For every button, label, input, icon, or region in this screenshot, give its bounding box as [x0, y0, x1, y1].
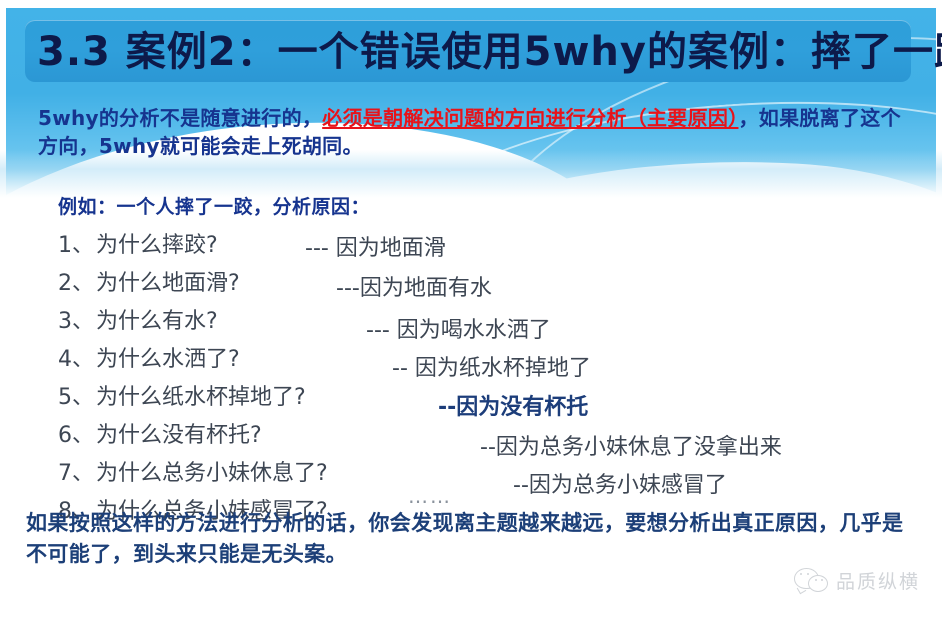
ellipsis-marker: …… — [408, 484, 452, 508]
answer-row: --因为没有杯托 — [438, 389, 588, 421]
answer-list: --- 因为地面滑---因为地面有水--- 因为喝水水洒了-- 因为纸水杯掉地了… — [0, 224, 942, 504]
wechat-icon — [794, 568, 828, 594]
answer-row: -- 因为纸水杯掉地了 — [392, 350, 591, 382]
title-box: 3.3 案例2：一个错误使用5why的案例：摔了一跤 — [25, 20, 911, 82]
answer-row: ---因为地面有水 — [336, 270, 492, 302]
answer-row: --因为总务小妹休息了没拿出来 — [480, 429, 782, 461]
slide-canvas: 3.3 案例2：一个错误使用5why的案例：摔了一跤 5why的分析不是随意进行… — [0, 0, 942, 620]
intro-lead: 5why的分析不是随意进行的， — [38, 106, 322, 130]
intro-highlight: 必须是朝解决问题的方向进行分析（主要原因） — [322, 106, 738, 130]
watermark: 品质纵横 — [794, 567, 920, 594]
page-title: 3.3 案例2：一个错误使用5why的案例：摔了一跤 — [37, 22, 942, 82]
conclusion-text: 如果按照这样的方法进行分析的话，你会发现离主题越来越远，要想分析出真正原因，几乎… — [26, 508, 916, 570]
intro-paragraph: 5why的分析不是随意进行的，必须是朝解决问题的方向进行分析（主要原因），如果脱… — [38, 104, 914, 160]
answer-row: --- 因为喝水水洒了 — [366, 312, 551, 344]
answer-row: --- 因为地面滑 — [305, 230, 446, 262]
watermark-label: 品质纵横 — [836, 567, 920, 594]
answer-row: --因为总务小妹感冒了 — [513, 467, 727, 499]
example-heading: 例如：一个人摔了一跤，分析原因： — [58, 192, 370, 219]
